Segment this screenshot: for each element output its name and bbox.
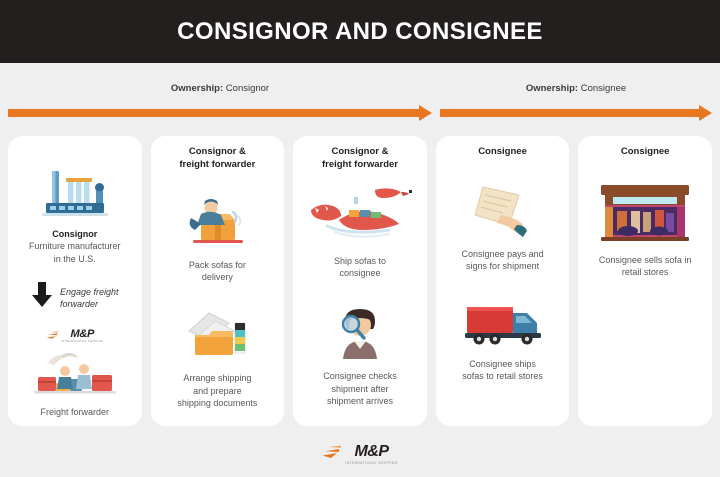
ownership-band: Ownership: Consignor Ownership: Consigne… <box>0 63 720 131</box>
card-caption: Consignee pays and signs for shipment <box>462 248 544 273</box>
ownership-segment-consignee: Ownership: Consignee <box>440 63 712 131</box>
swoosh-icon <box>46 327 59 345</box>
factory-icon <box>38 163 112 224</box>
card-caption: Consignee checks shipment after shipment… <box>323 370 397 407</box>
cargo-ship-icon <box>305 182 415 249</box>
process-card-2: Consignor & freight forwarder <box>151 136 285 426</box>
process-card-row: Consignor Furniture manufacturer in the … <box>8 136 712 426</box>
mp-brand-text: M&P <box>71 328 95 340</box>
packing-worker-icon <box>175 194 259 253</box>
card-block-ships-to-retail: Consignee ships sofas to retail stores <box>444 299 562 383</box>
ownership-value: Consignee <box>581 83 626 94</box>
retail-store-icon <box>597 181 693 248</box>
footer-logo-area: M&P INTERNATIONAL SHIPPING <box>0 432 720 477</box>
right-arrow-icon <box>440 105 712 121</box>
mp-logo-subtitle: INTERNATIONAL SHIPPING <box>345 461 397 465</box>
card-title: Consignee <box>478 146 527 159</box>
card-caption: Ship sofas to consignee <box>334 255 386 280</box>
card-caption: Consignee ships sofas to retail stores <box>462 358 543 383</box>
arrow-shaft <box>8 109 419 117</box>
card-title: Consignee <box>621 146 670 159</box>
mp-logo-text: M&P <box>354 444 388 460</box>
card-block-consignor: Consignor Furniture manufacturer in the … <box>16 163 134 265</box>
mp-brand-mark: M&P INTERNATIONAL SHIPPING <box>46 327 103 345</box>
card-heading: Consignor <box>52 228 97 240</box>
card-block-sells-retail: Consignee sells sofa in retail stores <box>586 181 704 279</box>
card-caption: Consignee sells sofa in retail stores <box>599 254 692 279</box>
process-card-1: Consignor Furniture manufacturer in the … <box>8 136 142 426</box>
ownership-label-consignor: Ownership: Consignor <box>8 83 432 94</box>
delivery-truck-icon <box>459 299 547 352</box>
process-card-4: Consignee Consignee pays <box>436 136 570 426</box>
freight-forwarder-icon <box>32 349 118 402</box>
ownership-value: Consignor <box>226 83 269 94</box>
ownership-label-consignee: Ownership: Consignee <box>440 83 712 94</box>
arrow-head <box>699 105 712 121</box>
card-block-consignee-checks: Consignee checks shipment after shipment… <box>301 305 419 407</box>
card-block-pays-signs: Consignee pays and signs for shipment <box>444 181 562 273</box>
process-card-5: Consignee <box>578 136 712 426</box>
arrow-head <box>419 105 432 121</box>
card-caption: Pack sofas for delivery <box>189 259 246 284</box>
down-arrow-icon <box>31 282 53 313</box>
documents-folder-icon <box>175 309 259 366</box>
ownership-key: Ownership: <box>526 83 578 94</box>
card-block-engage-forwarder: Engage freight forwarder <box>16 282 134 313</box>
process-card-3: Consignor & freight forwarder <box>293 136 427 426</box>
ownership-segment-consignor: Ownership: Consignor <box>8 63 432 131</box>
arrow-shaft <box>440 109 699 117</box>
card-block-pack-sofas: Pack sofas for delivery <box>159 194 277 284</box>
mp-logo: M&P INTERNATIONAL SHIPPING <box>322 444 397 465</box>
swoosh-icon <box>322 445 342 464</box>
card-block-freight-forwarder: M&P INTERNATIONAL SHIPPING <box>16 327 134 418</box>
signing-document-icon <box>461 181 545 242</box>
header-bar: CONSIGNOR AND CONSIGNEE <box>0 0 720 63</box>
page-title: CONSIGNOR AND CONSIGNEE <box>177 18 543 46</box>
card-caption: Freight forwarder <box>41 406 110 418</box>
card-title: Consignor & freight forwarder <box>322 146 398 172</box>
card-block-ship-sofas: Ship sofas to consignee <box>301 182 419 280</box>
card-caption: Furniture manufacturer in the U.S. <box>29 240 121 265</box>
card-caption: Arrange shipping and prepare shipping do… <box>177 372 257 409</box>
card-title: Consignor & freight forwarder <box>179 146 255 172</box>
inspector-magnifier-icon <box>327 305 393 364</box>
right-arrow-icon <box>8 105 432 121</box>
engage-note: Engage freight forwarder <box>60 286 119 310</box>
card-block-arrange-shipping: Arrange shipping and prepare shipping do… <box>159 309 277 409</box>
mp-brand-subtitle: INTERNATIONAL SHIPPING <box>61 340 103 343</box>
infographic-page: CONSIGNOR AND CONSIGNEE Ownership: Consi… <box>0 0 720 477</box>
ownership-key: Ownership: <box>171 83 223 94</box>
